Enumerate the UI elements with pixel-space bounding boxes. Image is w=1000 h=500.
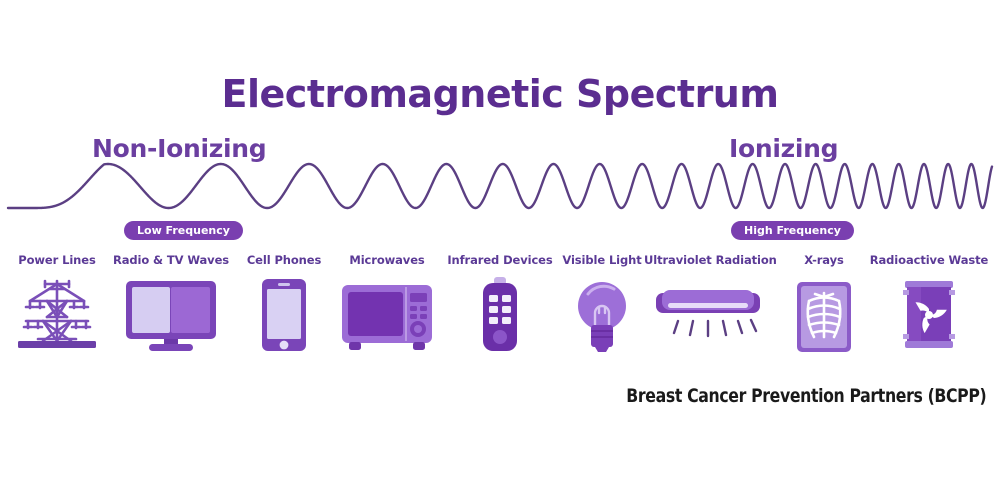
tv-remote-icon	[442, 275, 558, 353]
category-label: Microwaves	[332, 253, 442, 267]
spectrum-category-list: Power Lines	[0, 253, 1000, 368]
category-label: Visible Light	[558, 253, 646, 267]
smartphone-icon	[234, 275, 334, 353]
category-ultraviolet-radiation: Ultraviolet Radiation	[644, 253, 772, 353]
ground-bar	[18, 341, 96, 348]
wave-svg	[0, 160, 1000, 222]
category-cell-phones: Cell Phones	[234, 253, 334, 353]
xray-ribcage-icon	[780, 275, 868, 353]
power-pylon-icon	[2, 275, 112, 353]
television-icon	[112, 275, 230, 353]
category-label: Ultraviolet Radiation	[644, 253, 772, 267]
category-microwaves: Microwaves	[332, 253, 442, 353]
section-heading-non-ionizing: Non-Ionizing	[92, 134, 266, 163]
category-label: Power Lines	[2, 253, 112, 267]
category-label: Radio & TV Waves	[112, 253, 230, 267]
electromagnetic-spectrum-infographic: Electromagnetic Spectrum Non-Ionizing Io…	[0, 0, 1000, 500]
category-xrays: X-rays	[780, 253, 868, 353]
category-infrared-devices: Infrared Devices	[442, 253, 558, 353]
light-bulb-icon	[558, 275, 646, 353]
category-radio-tv-waves: Radio & TV Waves	[112, 253, 230, 353]
low-frequency-badge: Low Frequency	[124, 221, 243, 240]
uv-lamp-icon	[644, 275, 772, 353]
category-label: Radioactive Waste	[860, 253, 998, 267]
category-power-lines: Power Lines	[2, 253, 112, 353]
attribution-text: Breast Cancer Prevention Partners (BCPP)	[626, 385, 986, 407]
category-label: Cell Phones	[234, 253, 334, 267]
high-frequency-badge: High Frequency	[731, 221, 854, 240]
radioactive-barrel-icon	[860, 275, 998, 353]
category-visible-light: Visible Light	[558, 253, 646, 353]
section-heading-ionizing: Ionizing	[729, 134, 838, 163]
category-label: Infrared Devices	[442, 253, 558, 267]
page-title: Electromagnetic Spectrum	[0, 72, 1000, 116]
microwave-oven-icon	[332, 275, 442, 353]
spectrum-wave-chart	[0, 160, 1000, 222]
wave-line	[8, 164, 992, 208]
category-label: X-rays	[780, 253, 868, 267]
category-radioactive-waste: Radioactive Waste	[860, 253, 998, 353]
